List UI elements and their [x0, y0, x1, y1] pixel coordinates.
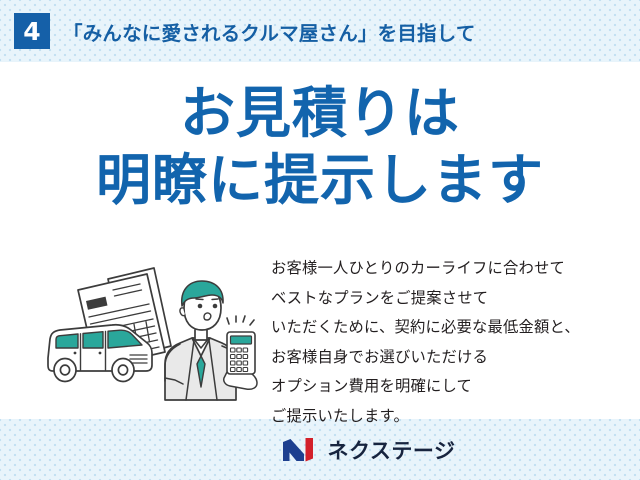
body-copy-line: お客様一人ひとりのカーライフに合わせて	[271, 254, 631, 284]
body-copy-line: ベストなプランをご提案させて	[271, 284, 631, 314]
salesman-figure	[165, 281, 257, 400]
body-copy-line: オプション費用を明確にして	[271, 372, 631, 402]
content-panel: お見積りは 明瞭に提示します お客様一人ひとりのカーライフに合わせて ベストなプ…	[0, 62, 640, 419]
body-copy-line: いただくために、契約に必要な最低金額と、	[271, 313, 631, 343]
section-number-badge: 4	[14, 13, 50, 49]
sparkle-icon	[227, 316, 254, 325]
footer-bar: ネクステージ	[0, 419, 640, 480]
header-title: 「みんなに愛されるクルマ屋さん」を目指して	[63, 17, 476, 46]
brand-name: ネクステージ	[328, 435, 456, 465]
van-illustration	[48, 325, 152, 382]
headline-line-2: 明瞭に提示します	[0, 149, 640, 212]
body-copy: お客様一人ひとりのカーライフに合わせて ベストなプランをご提案させて いただくた…	[271, 254, 631, 431]
illustration	[34, 260, 270, 410]
illustration-artwork	[34, 260, 270, 410]
headline: お見積りは 明瞭に提示します	[0, 82, 640, 211]
headline-line-1: お見積りは	[0, 82, 640, 145]
nextage-n-logo-icon	[281, 436, 321, 464]
brand-logo: ネクステージ	[281, 435, 456, 465]
header-bar: 4 「みんなに愛されるクルマ屋さん」を目指して	[0, 0, 640, 62]
body-copy-line: お客様自身でお選びいただける	[271, 343, 631, 373]
slide-root: 4 「みんなに愛されるクルマ屋さん」を目指して お見積りは 明瞭に提示します お…	[0, 0, 640, 480]
calculator	[227, 332, 255, 374]
